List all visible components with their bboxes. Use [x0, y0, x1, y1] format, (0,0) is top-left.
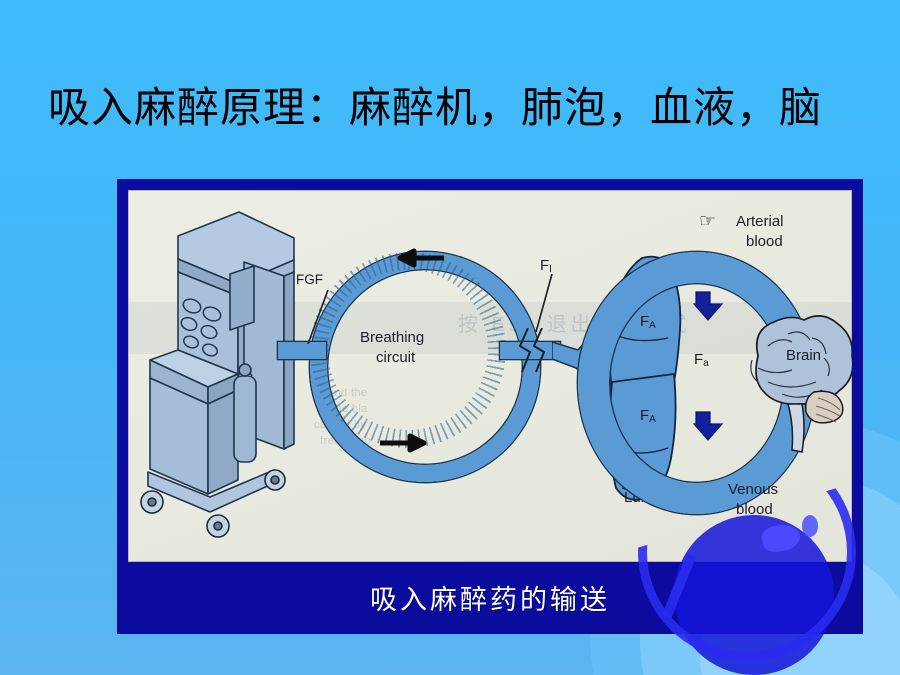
anesthesia-machine — [134, 204, 324, 554]
label-venous-line1: Venous — [728, 482, 778, 497]
label-fi-sub: I — [549, 264, 552, 275]
fgf-leader-line — [304, 290, 334, 348]
blood-upper-arrow-icon — [690, 286, 730, 326]
fa-blood-base: F — [694, 351, 703, 368]
blood-lower-arrow-icon — [690, 406, 730, 446]
circuit-bottom-arrow-icon — [378, 433, 440, 453]
fi-leader-line — [530, 274, 558, 336]
fa-blood-sub: a — [703, 358, 709, 369]
scanned-diagram-image: 按 Esc 退出全屏模式 and the by the bla carried … — [128, 190, 852, 562]
presentation-slide: 吸入麻醉原理：麻醉机，肺泡，血液，脑 按 Esc 退出全屏模式 and the … — [0, 0, 900, 675]
label-brain: Brain — [786, 348, 821, 363]
label-breathing-circuit-line2: circuit — [376, 350, 415, 365]
brain — [728, 308, 852, 458]
label-arterial-line1: Arterial — [736, 214, 784, 229]
image-caption-text: 吸入麻醉药的输送 — [370, 578, 610, 617]
label-breathing-circuit-line1: Breathing — [360, 330, 424, 345]
image-frame: 按 Esc 退出全屏模式 and the by the bla carried … — [118, 180, 862, 633]
circuit-top-arrow-icon — [384, 248, 446, 268]
image-caption-band: 吸入麻醉药的输送 — [118, 562, 862, 633]
pointing-hand-cursor-icon[interactable]: ☞ — [699, 212, 721, 232]
label-fgf: FGF — [296, 272, 323, 287]
label-fa-blood: Fa — [694, 352, 709, 371]
slide-title: 吸入麻醉原理：麻醉机，肺泡，血液，脑 — [48, 82, 858, 135]
label-fi-base: F — [540, 257, 549, 274]
label-arterial-line2: blood — [746, 234, 783, 249]
globe-landmass-small — [802, 515, 818, 537]
label-fi: FI — [540, 258, 552, 277]
